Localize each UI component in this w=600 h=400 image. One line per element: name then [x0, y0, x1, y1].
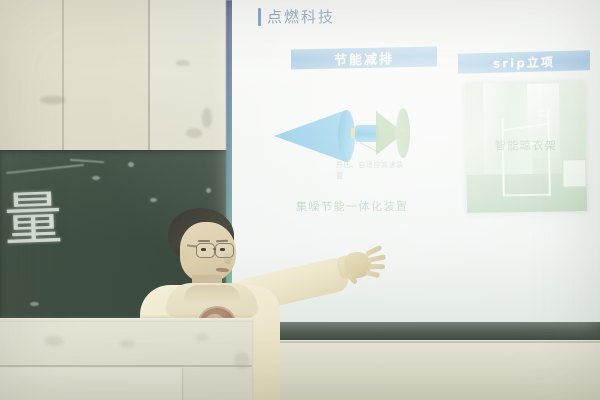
- diagram-caption: 集噪节能一体化装置: [296, 198, 416, 215]
- lecture-photo-scene: 量 点燃科技 节能减排 srip立项 升压、自适应减速装置 集噪节能一体化装置: [0, 0, 600, 400]
- podium-seam: [0, 365, 252, 367]
- wall-smudge: [40, 96, 66, 104]
- chalk-dust: [92, 176, 100, 180]
- primary-cone-shape: [274, 110, 346, 162]
- page-title: 点燃科技: [267, 6, 335, 27]
- section-banner-energy: 节能减排: [291, 46, 437, 69]
- chalkboard-character: 量: [3, 171, 65, 257]
- wall-seam-right: [148, 0, 150, 152]
- podium-stain: [196, 334, 208, 341]
- rack-hook: [537, 115, 547, 117]
- podium-stain: [234, 352, 250, 370]
- chalk-ledge: [246, 340, 600, 400]
- photo-chair: [562, 159, 586, 187]
- photo-caption: 智能晾衣架: [466, 137, 586, 153]
- projection-screen: 点燃科技 节能减排 srip立项 升压、自适应减速装置 集噪节能一体化装置: [232, 0, 600, 322]
- chalk-ledge-edge: [246, 341, 600, 343]
- chalk-dust: [150, 198, 157, 202]
- screen-falloff: [232, 255, 600, 322]
- podium-top-edge: [0, 318, 252, 322]
- wall-smudge: [176, 60, 190, 66]
- title-accent-bar: [258, 8, 261, 26]
- diagram-annotation: 升压、自适应减速装置: [336, 160, 408, 181]
- slide-title-group: 点燃科技: [258, 6, 335, 27]
- secondary-cone-face: [396, 108, 410, 158]
- wall-seam-left: [62, 0, 64, 152]
- chalk-dust: [30, 302, 39, 306]
- section-banner-srip: srip立项: [458, 50, 590, 73]
- chalk-dust: [128, 162, 134, 167]
- podium-front-panel: [0, 368, 183, 400]
- rack-hook: [537, 110, 551, 112]
- wall-smudge: [186, 128, 202, 138]
- photo-curtain: [483, 82, 533, 187]
- podium-stain: [44, 336, 64, 346]
- podium-stain: [120, 340, 134, 348]
- chalk-dust: [206, 188, 211, 193]
- wall-smudge: [202, 108, 212, 128]
